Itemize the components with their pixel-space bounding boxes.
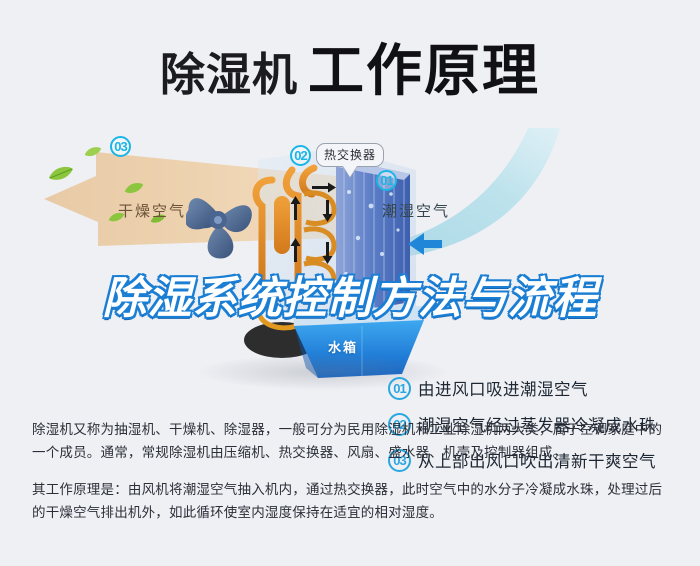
leaf-icon — [124, 182, 144, 195]
fan-icon — [186, 198, 252, 258]
callout-tail-icon — [343, 166, 357, 177]
heat-exchanger-callout: 热交换器 — [316, 143, 384, 167]
page-title-prefix: 除湿机 — [160, 49, 298, 100]
overlay-headline: 除湿系统控制方法与流程 — [0, 262, 700, 326]
compressor — [274, 196, 290, 254]
heat-exchanger-callout-label: 热交换器 — [324, 148, 376, 162]
body-copy: 除湿机又称为抽湿机、干燥机、除湿器，一般可分为民用除湿机和工业除湿机两大类，属于… — [32, 418, 672, 524]
diagram-badge-03: 03 — [110, 136, 131, 157]
legend-item: 01 由进风口吸进潮湿空气 — [388, 370, 688, 406]
page-root: 除湿机工作原理 — [0, 0, 700, 566]
diagram-badge-02: 02 — [290, 145, 311, 166]
dehumidifier-machine — [186, 134, 446, 386]
humid-air-label: 潮湿空气 — [382, 200, 450, 221]
body-paragraph-2: 其工作原理是：由风机将潮湿空气抽入机内，通过热交换器，此时空气中的水分子冷凝成水… — [32, 478, 672, 524]
legend-label: 由进风口吸进潮湿空气 — [418, 376, 588, 400]
leaf-icon — [48, 166, 74, 182]
water-tank-label: 水箱 — [328, 337, 358, 356]
page-title: 除湿机工作原理 — [0, 26, 700, 107]
dry-air-label: 干燥空气 — [118, 200, 186, 221]
page-title-main: 工作原理 — [308, 39, 540, 102]
legend-number: 01 — [388, 377, 411, 400]
diagram-badge-01: 01 — [376, 170, 397, 191]
leaf-icon — [84, 146, 102, 158]
body-paragraph-1: 除湿机又称为抽湿机、干燥机、除湿器，一般可分为民用除湿机和工业除湿机两大类，属于… — [32, 418, 672, 464]
